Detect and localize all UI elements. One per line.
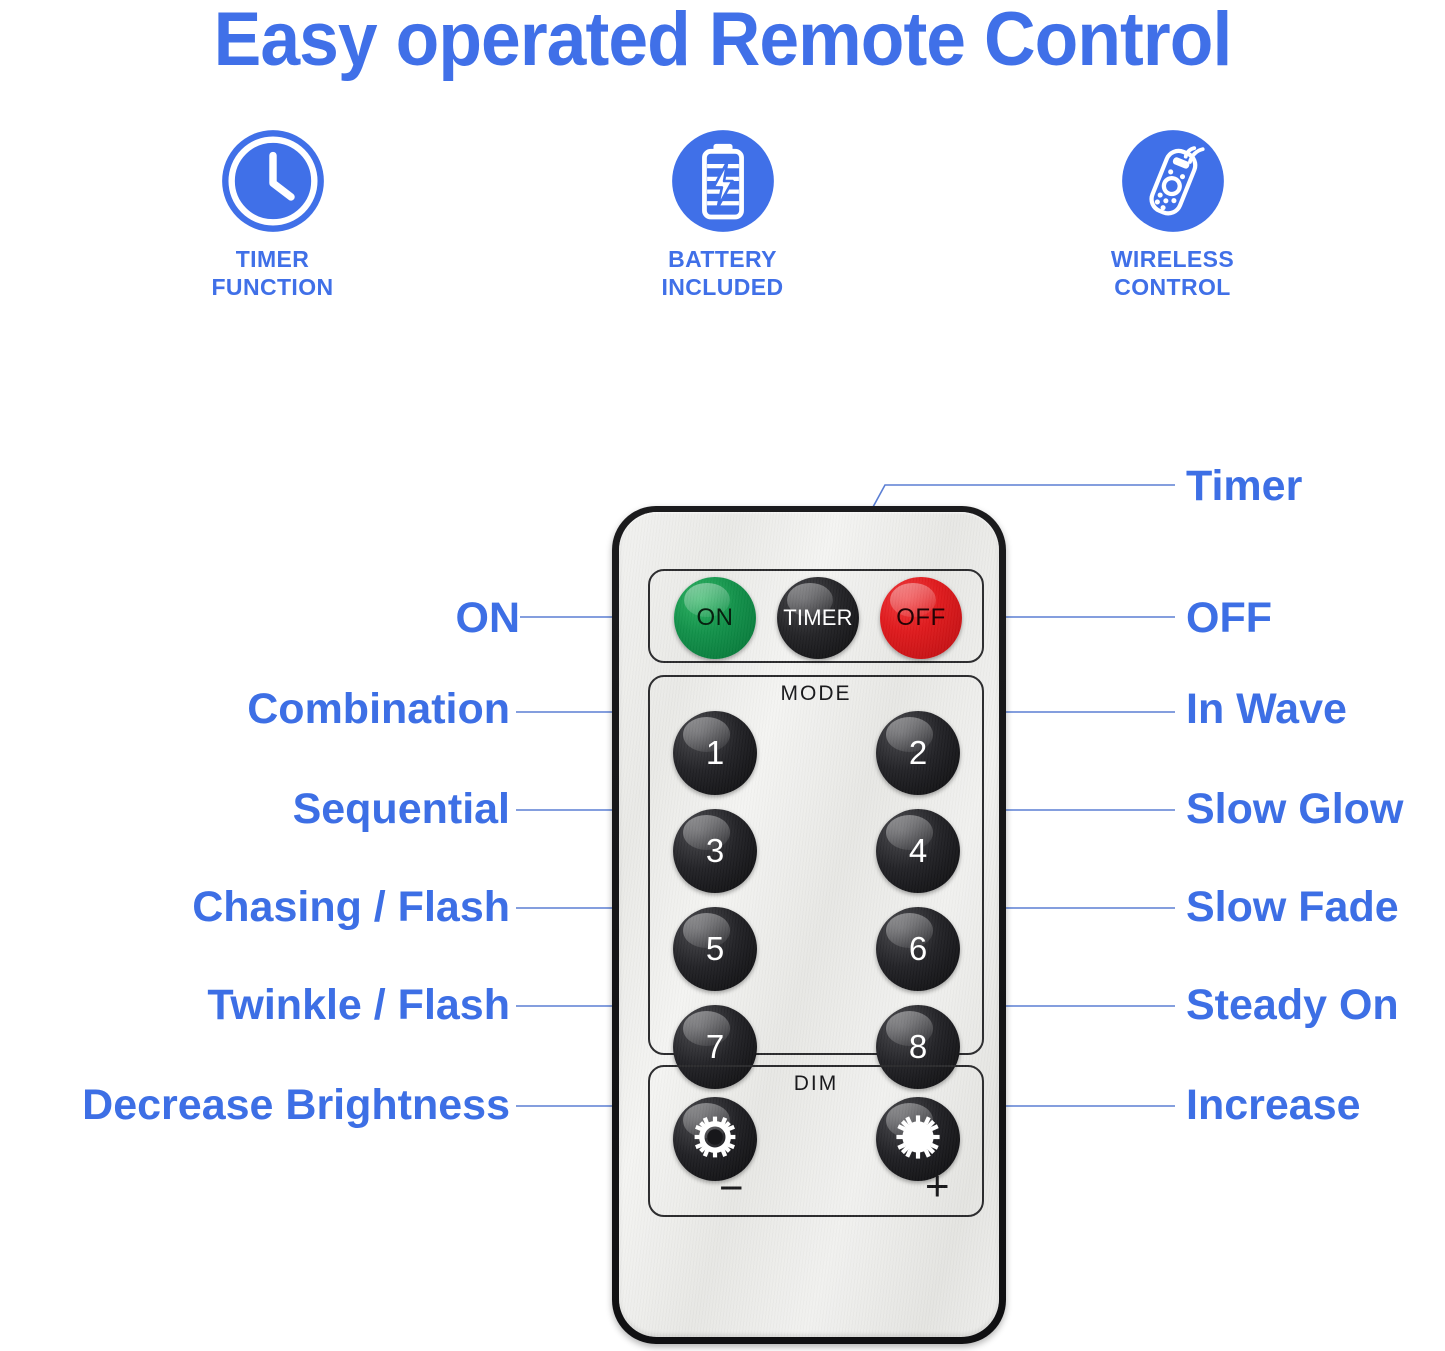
mode-button-label: 6 bbox=[909, 930, 927, 968]
dim-panel-title: DIM bbox=[650, 1072, 982, 1096]
increase-brightness-button[interactable] bbox=[876, 1097, 960, 1181]
dim-button-panel: DIM bbox=[648, 1065, 984, 1217]
timer-button-label: TIMER bbox=[783, 605, 852, 631]
callout-in-wave: In Wave bbox=[1186, 685, 1347, 733]
power-button-panel: ON TIMER OFF bbox=[648, 569, 984, 663]
mode-button-label: 7 bbox=[706, 1028, 724, 1066]
timer-button[interactable]: TIMER bbox=[777, 577, 859, 659]
mode-button-label: 2 bbox=[909, 734, 927, 772]
remote-control: ON TIMER OFF MODE 1 2 bbox=[612, 506, 1006, 1344]
sun-bright-icon bbox=[888, 1107, 948, 1172]
callout-slow-fade: Slow Fade bbox=[1186, 883, 1399, 931]
callout-decrease-brightness: Decrease Brightness bbox=[6, 1081, 510, 1129]
remote-faceplate: ON TIMER OFF MODE 1 2 bbox=[619, 512, 999, 1337]
callout-slow-glow: Slow Glow bbox=[1186, 785, 1403, 833]
mode-button-1[interactable]: 1 bbox=[673, 711, 757, 795]
on-button[interactable]: ON bbox=[674, 577, 756, 659]
mode-button-8[interactable]: 8 bbox=[876, 1005, 960, 1089]
mode-button-label: 8 bbox=[909, 1028, 927, 1066]
mode-button-4[interactable]: 4 bbox=[876, 809, 960, 893]
callout-on: ON bbox=[120, 594, 520, 642]
callout-steady-on: Steady On bbox=[1186, 981, 1399, 1029]
mode-button-7[interactable]: 7 bbox=[673, 1005, 757, 1089]
off-button-label: OFF bbox=[896, 604, 946, 632]
callout-sequential: Sequential bbox=[120, 785, 510, 833]
callout-chasing-flash: Chasing / Flash bbox=[100, 883, 510, 931]
mode-panel-title: MODE bbox=[650, 682, 982, 706]
callout-timer: Timer bbox=[1186, 462, 1302, 510]
mode-button-2[interactable]: 2 bbox=[876, 711, 960, 795]
feature-wireless-control: WIRELESS CONTROL bbox=[1048, 128, 1298, 301]
mode-button-5[interactable]: 5 bbox=[673, 907, 757, 991]
on-button-label: ON bbox=[697, 604, 734, 632]
decrease-brightness-button[interactable] bbox=[673, 1097, 757, 1181]
minus-sign: − bbox=[719, 1167, 744, 1209]
callout-increase: Increase bbox=[1186, 1081, 1361, 1129]
mode-button-6[interactable]: 6 bbox=[876, 907, 960, 991]
page-title: Easy operated Remote Control bbox=[43, 0, 1401, 80]
mode-button-label: 3 bbox=[706, 832, 724, 870]
clock-icon bbox=[220, 128, 326, 234]
mode-button-3[interactable]: 3 bbox=[673, 809, 757, 893]
feature-label: BATTERY INCLUDED bbox=[661, 245, 783, 301]
feature-battery-included: BATTERY INCLUDED bbox=[598, 128, 848, 301]
feature-badges: TIMER FUNCTION BATTERY INCLUDED bbox=[0, 128, 1445, 318]
mode-button-label: 5 bbox=[706, 930, 724, 968]
mode-button-label: 1 bbox=[706, 734, 724, 772]
feature-label: WIRELESS CONTROL bbox=[1111, 245, 1234, 301]
mode-button-panel: MODE 1 2 3 4 5 6 bbox=[648, 675, 984, 1055]
callout-twinkle-flash: Twinkle / Flash bbox=[100, 981, 510, 1029]
callout-combination: Combination bbox=[120, 685, 510, 733]
sun-dim-icon bbox=[685, 1107, 745, 1172]
remote-icon bbox=[1120, 128, 1226, 234]
feature-timer-function: TIMER FUNCTION bbox=[148, 128, 398, 301]
callout-off: OFF bbox=[1186, 594, 1272, 642]
off-button[interactable]: OFF bbox=[880, 577, 962, 659]
feature-label: TIMER FUNCTION bbox=[211, 245, 333, 301]
mode-button-label: 4 bbox=[909, 832, 927, 870]
battery-icon bbox=[670, 128, 776, 234]
